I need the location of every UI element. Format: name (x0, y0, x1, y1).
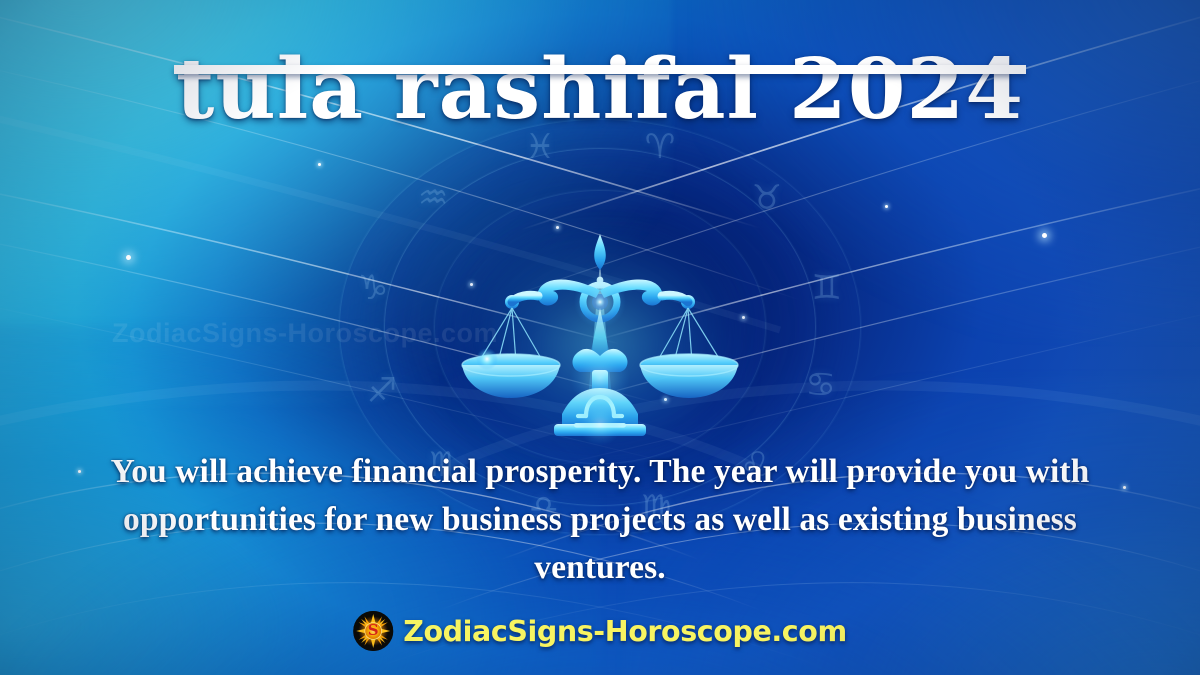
background-vignette (0, 0, 1200, 675)
horoscope-poster: ♓♈♉♊♋♌♍♎♏♐♑♒ (0, 0, 1200, 675)
